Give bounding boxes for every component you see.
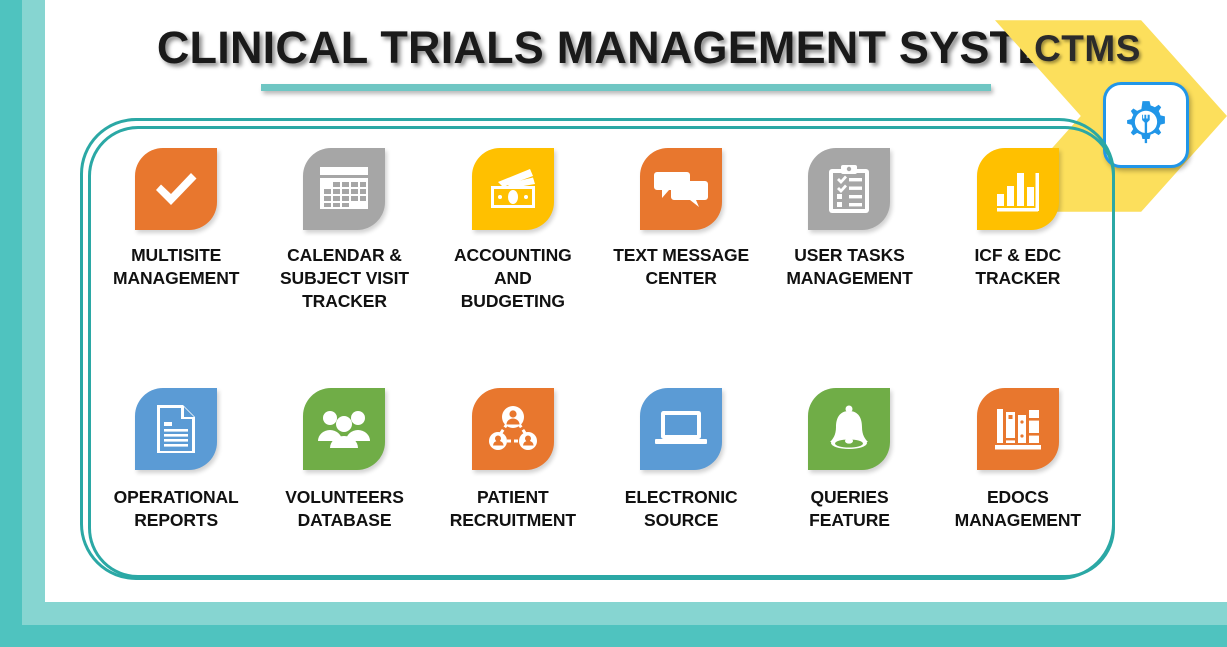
feature-item-accounting-and-budgeting[interactable]: ACCOUNTING AND BUDGETING [429,148,597,313]
feature-label: OPERATIONAL REPORTS [114,486,239,532]
user-network-icon [487,403,539,455]
feature-item-volunteers-database[interactable]: VOLUNTEERS DATABASE [260,388,428,532]
bookshelf-icon [992,404,1044,454]
tile-background [640,388,722,470]
tile-background [135,388,217,470]
feature-label: PATIENT RECRUITMENT [450,486,576,532]
feature-item-calendar-subject-visit-tracker[interactable]: CALENDAR & SUBJECT VISIT TRACKER [260,148,428,313]
feature-label: ICF & EDC TRACKER [975,244,1062,290]
tile-background [472,388,554,470]
document-page-icon [153,403,199,455]
bar-chart-icon [993,164,1043,214]
feature-grid-row-1: MULTISITE MANAGEMENT [92,148,1102,313]
feature-grid-row-2: OPERATIONAL REPORTS [92,388,1102,532]
feature-label: TEXT MESSAGE CENTER [613,244,749,290]
calendar-icon [317,165,371,213]
feature-item-queries-feature[interactable]: QUERIES FEATURE [765,388,933,532]
slide-root: CLINICAL TRIALS MANAGEMENT SYSTEM CTMS [0,0,1227,647]
chat-bubbles-icon [654,167,708,211]
feature-item-electronic-source[interactable]: ELECTRONIC SOURCE [597,388,765,532]
check-mark-icon [150,163,202,215]
feature-item-icf-edc-tracker[interactable]: ICF & EDC TRACKER [934,148,1102,313]
feature-label: QUERIES FEATURE [809,486,890,532]
page-title: CLINICAL TRIALS MANAGEMENT SYSTEM [157,22,1085,74]
clipboard-checklist-icon [825,163,873,215]
title-underline [261,84,991,91]
tile-background [808,148,890,230]
feature-item-user-tasks-management[interactable]: USER TASKS MANAGEMENT [765,148,933,313]
bell-icon [823,404,875,454]
tile-background [135,148,217,230]
tile-background [977,388,1059,470]
feature-item-multisite-management[interactable]: MULTISITE MANAGEMENT [92,148,260,313]
money-banknote-icon [486,165,540,213]
tile-background [303,388,385,470]
tile-background [808,388,890,470]
feature-item-text-message-center[interactable]: TEXT MESSAGE CENTER [597,148,765,313]
feature-label: ELECTRONIC SOURCE [625,486,738,532]
feature-label: USER TASKS MANAGEMENT [786,244,912,290]
tile-background [472,148,554,230]
feature-label: CALENDAR & SUBJECT VISIT TRACKER [280,244,409,313]
feature-label: ACCOUNTING AND BUDGETING [454,244,572,313]
laptop-icon [653,407,709,451]
feature-label: MULTISITE MANAGEMENT [113,244,239,290]
feature-label: VOLUNTEERS DATABASE [285,486,404,532]
feature-item-patient-recruitment[interactable]: PATIENT RECRUITMENT [429,388,597,532]
feature-label: EDOCS MANAGEMENT [955,486,1081,532]
feature-item-edocs-management[interactable]: EDOCS MANAGEMENT [934,388,1102,532]
tile-background [977,148,1059,230]
title-block: CLINICAL TRIALS MANAGEMENT SYSTEM [45,22,1227,110]
tile-background [640,148,722,230]
feature-item-operational-reports[interactable]: OPERATIONAL REPORTS [92,388,260,532]
tile-background [303,148,385,230]
people-group-icon [316,409,372,449]
